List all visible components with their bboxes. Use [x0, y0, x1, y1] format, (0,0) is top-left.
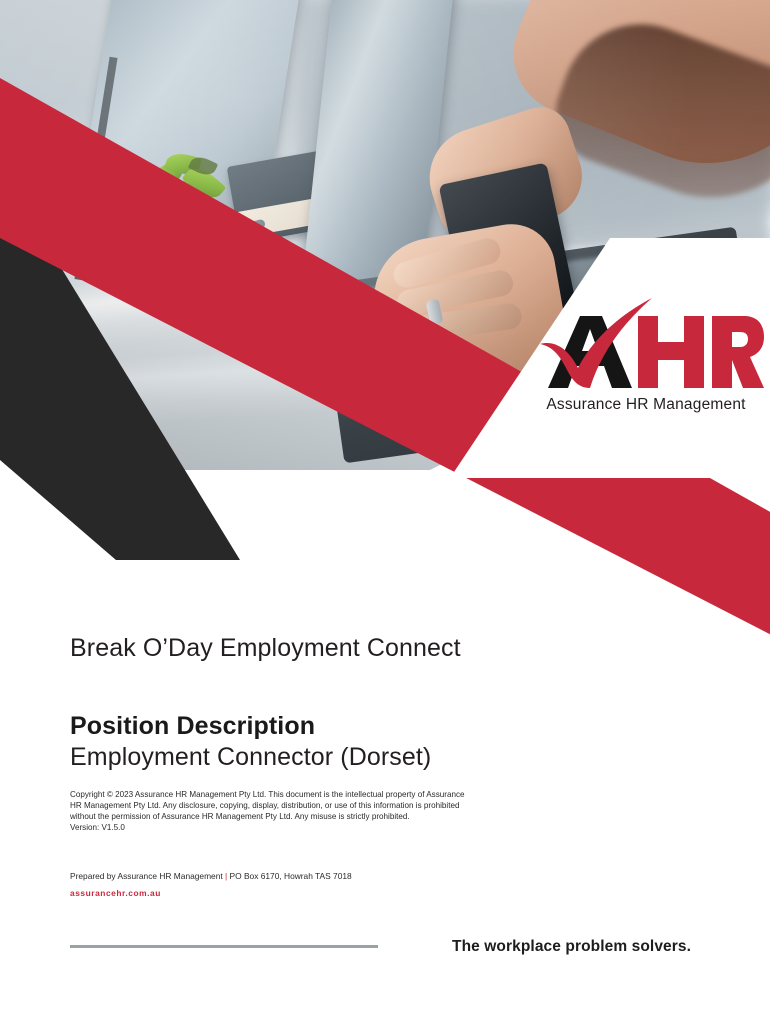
- document-cover-page: Assurance HR Management Break O’Day Empl…: [0, 0, 770, 1024]
- company-tagline: The workplace problem solvers.: [452, 938, 691, 956]
- prepared-by-prefix: Prepared by Assurance HR Management: [70, 871, 225, 881]
- website-link[interactable]: assurancehr.com.au: [70, 887, 161, 900]
- title-block: Break O’Day Employment Connect Position …: [70, 634, 690, 773]
- hero-banner: Assurance HR Management: [0, 0, 770, 660]
- legal-block: Copyright © 2023 Assurance HR Management…: [70, 789, 470, 834]
- copyright-notice: Copyright © 2023 Assurance HR Management…: [70, 789, 470, 822]
- prepared-by-block: Prepared by Assurance HR Management | PO…: [70, 870, 530, 901]
- document-subject: Break O’Day Employment Connect: [70, 634, 690, 663]
- document-role: Employment Connector (Dorset): [70, 743, 690, 773]
- prepared-by-line: Prepared by Assurance HR Management | PO…: [70, 870, 530, 883]
- version-label: Version: V1.5.0: [70, 822, 470, 833]
- logo-letters-hr-shape: [638, 316, 764, 388]
- ahr-logo: Assurance HR Management: [528, 296, 764, 414]
- document-type: Position Description: [70, 712, 690, 742]
- prepared-by-address: PO Box 6170, Howrah TAS 7018: [227, 871, 351, 881]
- logo-caption: Assurance HR Management: [528, 396, 764, 414]
- footer-divider: [70, 945, 378, 948]
